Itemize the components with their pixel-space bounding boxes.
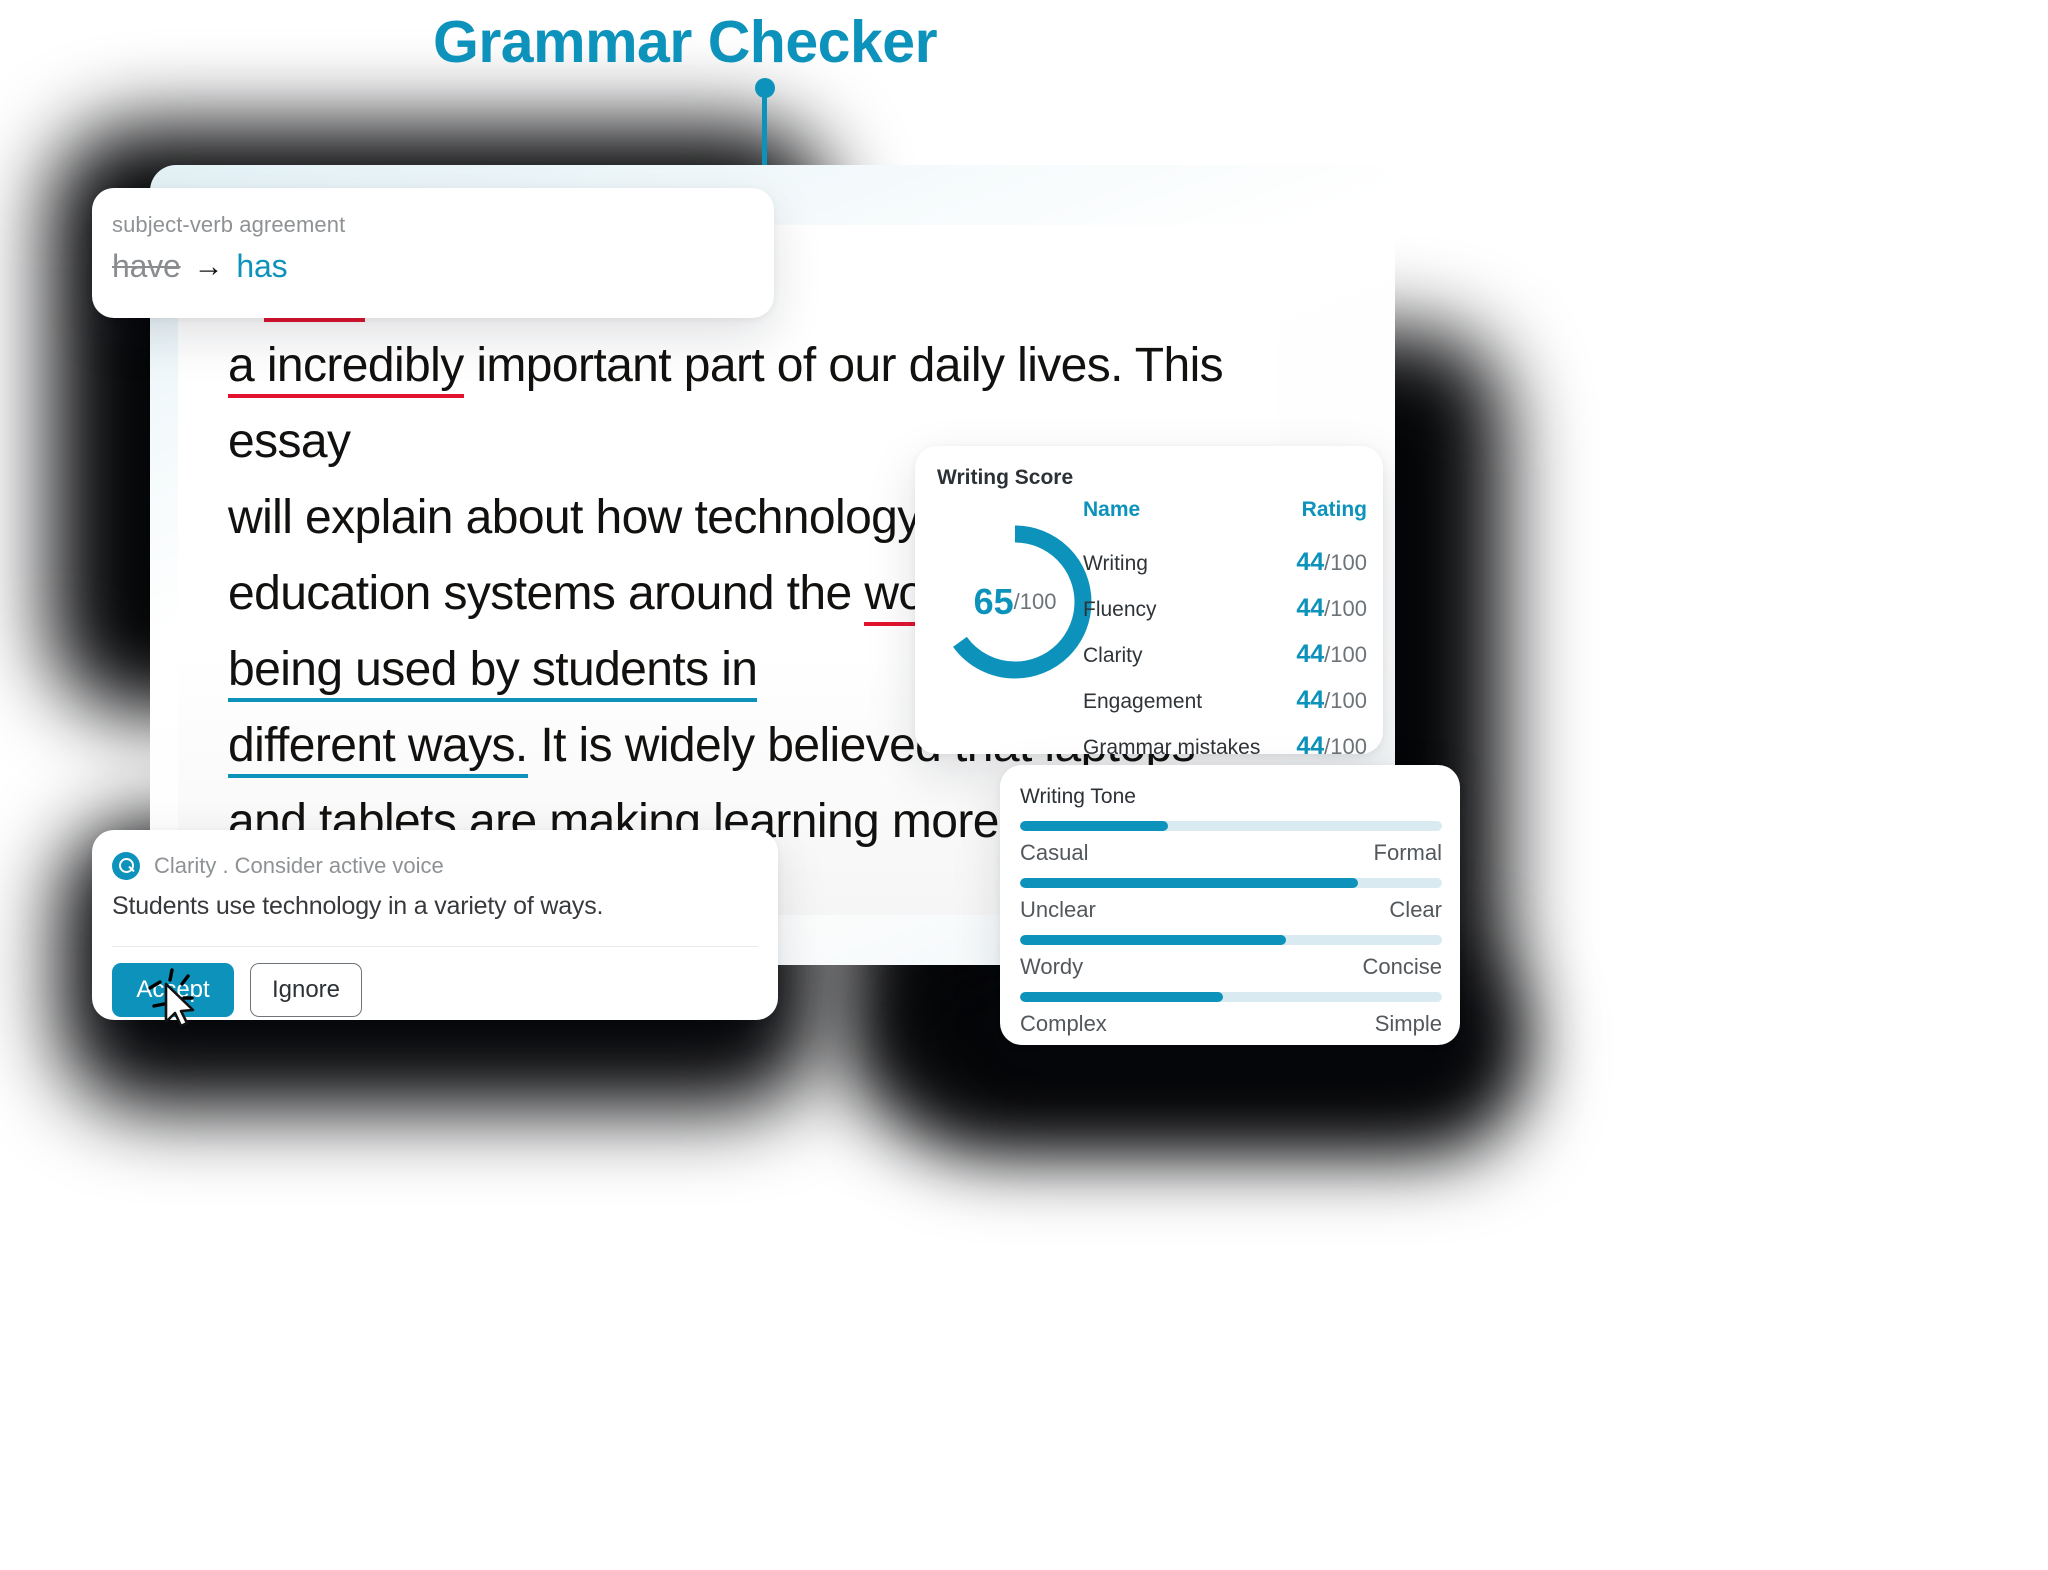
- screenshot-root: Grammar Checker it have becomea incredib…: [0, 0, 2048, 1570]
- tone-slider-track[interactable]: [1020, 935, 1442, 945]
- arrow-right-icon: →: [194, 250, 224, 284]
- clarity-card-header: Clarity . Consider active voice: [112, 852, 444, 880]
- score-metric-name: Engagement: [1083, 690, 1202, 714]
- magnifier-badge-icon: [112, 852, 140, 880]
- essay-text-run: education systems around the: [228, 567, 864, 620]
- table-row: Engagement44/100: [1083, 678, 1367, 724]
- suggestion-replacement: have → has: [112, 248, 287, 285]
- tone-label-right: Clear: [1389, 897, 1442, 923]
- writing-tone-list: CasualFormalUnclearClearWordyConciseComp…: [1020, 821, 1442, 1049]
- writing-score-value-group: 65 /100: [931, 518, 1099, 686]
- page-title: Grammar Checker: [0, 8, 1370, 76]
- score-metric-rating: 44/100: [1296, 640, 1367, 669]
- divider: [112, 946, 758, 947]
- writing-score-denominator: /100: [1014, 589, 1057, 615]
- table-row: Clarity44/100: [1083, 632, 1367, 678]
- writing-score-table: Name Rating Writing44/100Fluency44/100Cl…: [1083, 498, 1367, 770]
- tone-label-right: Concise: [1363, 954, 1442, 980]
- tone-label-left: Wordy: [1020, 954, 1083, 980]
- tone-slider-fill: [1020, 821, 1168, 831]
- table-row: Grammar mistakes44/100: [1083, 724, 1367, 770]
- tone-slider-track[interactable]: [1020, 992, 1442, 1002]
- writing-score-card: Writing Score 65 /100 Name Rating Writin…: [915, 446, 1383, 754]
- essay-error-red[interactable]: a incredibly: [228, 339, 464, 398]
- tone-slider-fill: [1020, 935, 1286, 945]
- tone-slider-fill: [1020, 992, 1223, 1002]
- tone-slider-labels: CasualFormal: [1020, 840, 1442, 866]
- column-header-rating: Rating: [1302, 498, 1367, 522]
- table-row: Fluency44/100: [1083, 586, 1367, 632]
- mouse-cursor-icon: [148, 968, 208, 1038]
- essay-error-blue[interactable]: different ways.: [228, 719, 528, 778]
- tone-slider-track[interactable]: [1020, 878, 1442, 888]
- writing-tone-card: Writing Tone CasualFormalUnclearClearWor…: [1000, 765, 1460, 1045]
- grammar-suggestion-card[interactable]: subject-verb agreement have → has: [92, 188, 774, 318]
- tone-label-left: Unclear: [1020, 897, 1096, 923]
- score-metric-rating: 44/100: [1296, 686, 1367, 715]
- table-row: Writing44/100: [1083, 540, 1367, 586]
- writing-score-donut-chart: 65 /100: [931, 518, 1099, 686]
- tone-label-right: Simple: [1375, 1011, 1442, 1037]
- suggestion-old-word: have: [112, 248, 181, 285]
- ignore-button[interactable]: Ignore: [250, 963, 362, 1017]
- clarity-suggestion-text: Students use technology in a variety of …: [112, 892, 603, 921]
- score-metric-name: Fluency: [1083, 598, 1157, 622]
- writing-score-title: Writing Score: [937, 466, 1073, 490]
- tone-label-left: Casual: [1020, 840, 1088, 866]
- score-metric-rating: 44/100: [1296, 548, 1367, 577]
- table-header-row: Name Rating: [1083, 498, 1367, 540]
- column-header-name: Name: [1083, 498, 1140, 522]
- writing-tone-title: Writing Tone: [1020, 785, 1136, 809]
- score-metric-name: Clarity: [1083, 644, 1143, 668]
- score-metric-rating: 44/100: [1296, 732, 1367, 761]
- tone-slider-item[interactable]: WordyConcise: [1020, 935, 1442, 980]
- score-metric-name: Grammar mistakes: [1083, 736, 1260, 760]
- tone-slider-item[interactable]: CasualFormal: [1020, 821, 1442, 866]
- suggestion-new-word[interactable]: has: [236, 248, 287, 285]
- tone-slider-track[interactable]: [1020, 821, 1442, 831]
- tone-label-left: Complex: [1020, 1011, 1107, 1037]
- clarity-rule-label: Clarity . Consider active voice: [154, 853, 444, 879]
- score-metric-name: Writing: [1083, 552, 1148, 576]
- tone-slider-labels: ComplexSimple: [1020, 1011, 1442, 1037]
- tone-slider-item[interactable]: UnclearClear: [1020, 878, 1442, 923]
- tone-slider-fill: [1020, 878, 1358, 888]
- tone-label-right: Formal: [1374, 840, 1442, 866]
- tone-slider-labels: UnclearClear: [1020, 897, 1442, 923]
- essay-text-run: will explain about how technology is: [228, 491, 980, 544]
- tone-slider-item[interactable]: ComplexSimple: [1020, 992, 1442, 1037]
- writing-score-value: 65: [974, 581, 1014, 623]
- tone-slider-labels: WordyConcise: [1020, 954, 1442, 980]
- suggestion-rule-label: subject-verb agreement: [112, 212, 345, 238]
- score-metric-rating: 44/100: [1296, 594, 1367, 623]
